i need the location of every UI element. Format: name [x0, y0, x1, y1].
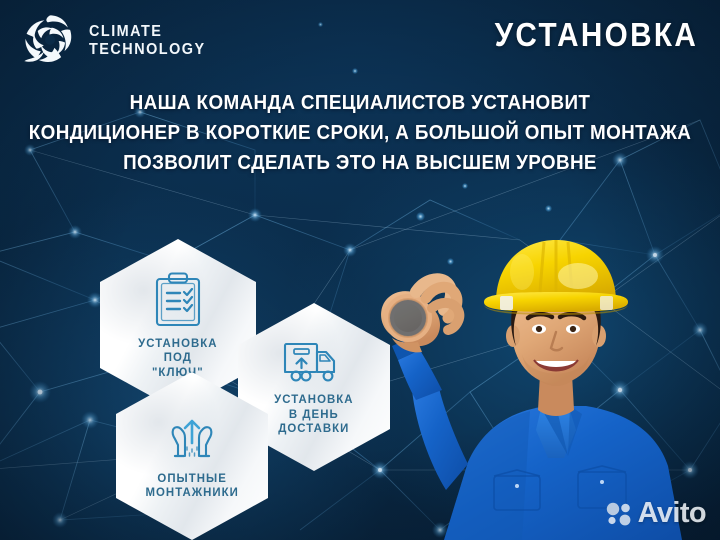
advertisement-banner: CLIMATE TECHNOLOGY УСТАНОВКА НАША КОМАНД…: [0, 0, 720, 540]
feature-label-line: ДОСТАВКИ: [274, 421, 353, 436]
clipboard-checklist-icon: [151, 271, 205, 329]
delivery-truck-icon: [282, 338, 346, 386]
brand-logo[interactable]: CLIMATE TECHNOLOGY: [22, 12, 214, 70]
feature-label-turnkey: УСТАНОВКА ПОД "КЛЮЧ": [138, 336, 217, 380]
fan-spiral-logo-icon: [22, 12, 78, 70]
headline: НАША КОМАНДА СПЕЦИАЛИСТОВ УСТАНОВИТ КОНД…: [29, 88, 691, 178]
careful-hands-icon: [164, 413, 220, 465]
feature-label-line: МОНТАЖНИКИ: [145, 485, 238, 500]
brand-name-line2: TECHNOLOGY: [89, 41, 206, 59]
feature-label-line: ОПЫТНЫЕ: [145, 471, 238, 486]
headline-line-1: НАША КОМАНДА СПЕЦИАЛИСТОВ УСТАНОВИТ: [29, 88, 691, 118]
avito-dots-icon: [606, 501, 632, 527]
feature-label-same-day-delivery: УСТАНОВКА В ДЕНЬ ДОСТАВКИ: [274, 392, 353, 436]
page-title: УСТАНОВКА: [494, 16, 698, 54]
avito-watermark: Avito: [606, 499, 706, 528]
brand-name: CLIMATE TECHNOLOGY: [89, 23, 206, 60]
feature-label-line: УСТАНОВКА: [138, 336, 217, 351]
headline-line-2: КОНДИЦИОНЕР В КОРОТКИЕ СРОКИ, А БОЛЬШОЙ …: [29, 118, 691, 148]
headline-line-3: ПОЗВОЛИТ СДЕЛАТЬ ЭТО НА ВЫСШЕМ УРОВНЕ: [29, 148, 691, 178]
feature-label-line: "КЛЮЧ": [138, 365, 217, 380]
feature-label-line: ПОД: [138, 350, 217, 365]
worker-photo: [372, 214, 702, 540]
brand-name-line1: CLIMATE: [89, 23, 206, 41]
avito-label: Avito: [638, 499, 706, 528]
feature-label-line: В ДЕНЬ: [274, 407, 353, 422]
feature-label-experienced-installers: ОПЫТНЫЕ МОНТАЖНИКИ: [145, 471, 238, 500]
feature-label-line: УСТАНОВКА: [274, 392, 353, 407]
